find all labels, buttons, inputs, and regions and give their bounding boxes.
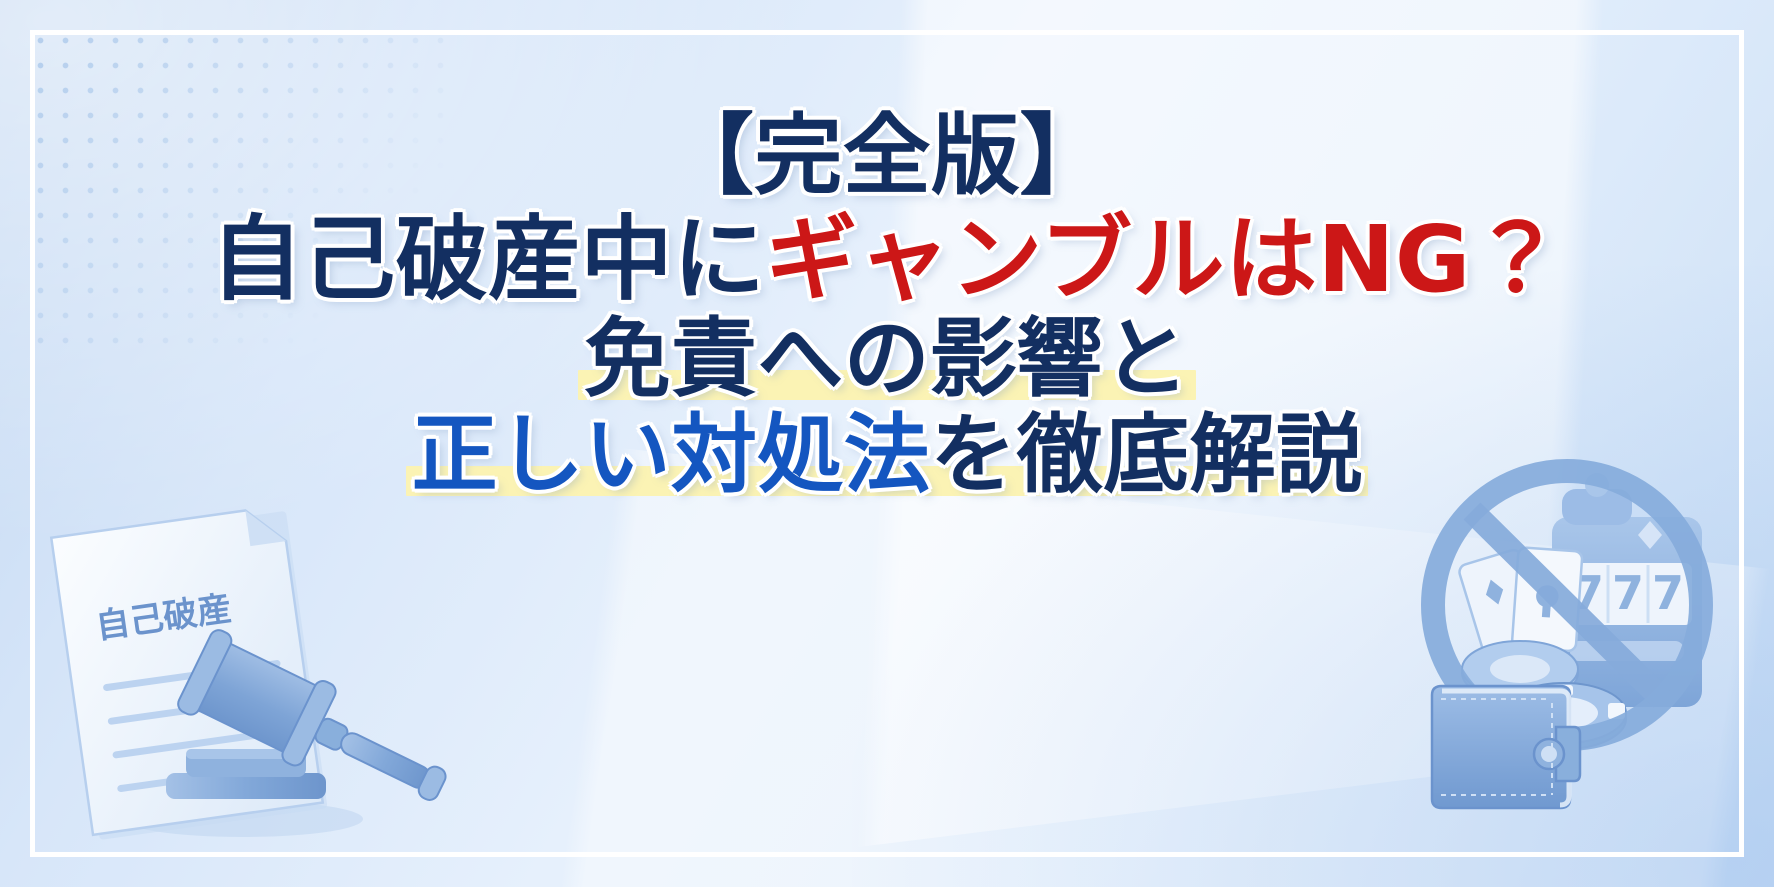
title-line-4-segment-navy: を徹底解説 [930, 405, 1362, 505]
title-block: 【完全版】 自己破産中にギャンブルはNG？ 免責への影響と 正しい対処法を徹底解… [0, 112, 1774, 498]
title-line-4-segment-blue: 正しい対処法 [412, 405, 931, 505]
title-line-4-highlight: 正しい対処法を徹底解説 [412, 412, 1363, 498]
title-line-4: 正しい対処法を徹底解説 [0, 412, 1774, 498]
title-line-2-segment-navy: 自己破産中に [211, 206, 766, 313]
title-line-1: 【完全版】 [0, 112, 1774, 200]
title-line-3-highlight: 免責への影響と [584, 316, 1189, 402]
title-line-3-text: 免責への影響と [584, 309, 1189, 409]
title-line-3: 免責への影響と [0, 316, 1774, 402]
eyecatch-canvas: 自己破産 [0, 0, 1774, 887]
title-line-2-segment-red: ギャンブルはNG？ [765, 206, 1563, 313]
title-line-1-text: 【完全版】 [666, 104, 1108, 207]
title-line-2: 自己破産中にギャンブルはNG？ [0, 214, 1774, 306]
